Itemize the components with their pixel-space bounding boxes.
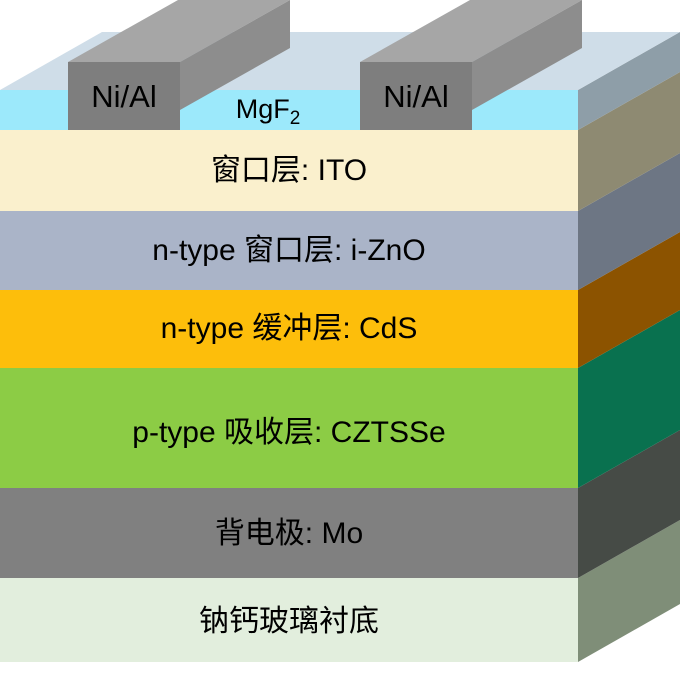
layer-stack-svg: Ni/Al Ni/Al MgF2 窗口层: ITO n-type 窗口层: i-… [0, 0, 696, 676]
mgf2-label-main: MgF [236, 94, 290, 124]
contact-left-label: Ni/Al [91, 79, 156, 114]
label-layer-izno: n-type 窗口层: i-ZnO [152, 234, 425, 267]
label-layer-cztsse: p-type 吸收层: CZTSSe [132, 416, 445, 449]
contact-right-label: Ni/Al [383, 79, 448, 114]
label-layer-ito: 窗口层: ITO [211, 154, 367, 187]
label-layer-mo: 背电极: Mo [215, 517, 363, 550]
label-layer-substrate: 钠钙玻璃衬底 [199, 605, 379, 638]
mgf2-label-subscript: 2 [290, 108, 301, 129]
label-layer-cds: n-type 缓冲层: CdS [161, 312, 418, 345]
device-structure-diagram: Ni/Al Ni/Al MgF2 窗口层: ITO n-type 窗口层: i-… [0, 0, 696, 676]
